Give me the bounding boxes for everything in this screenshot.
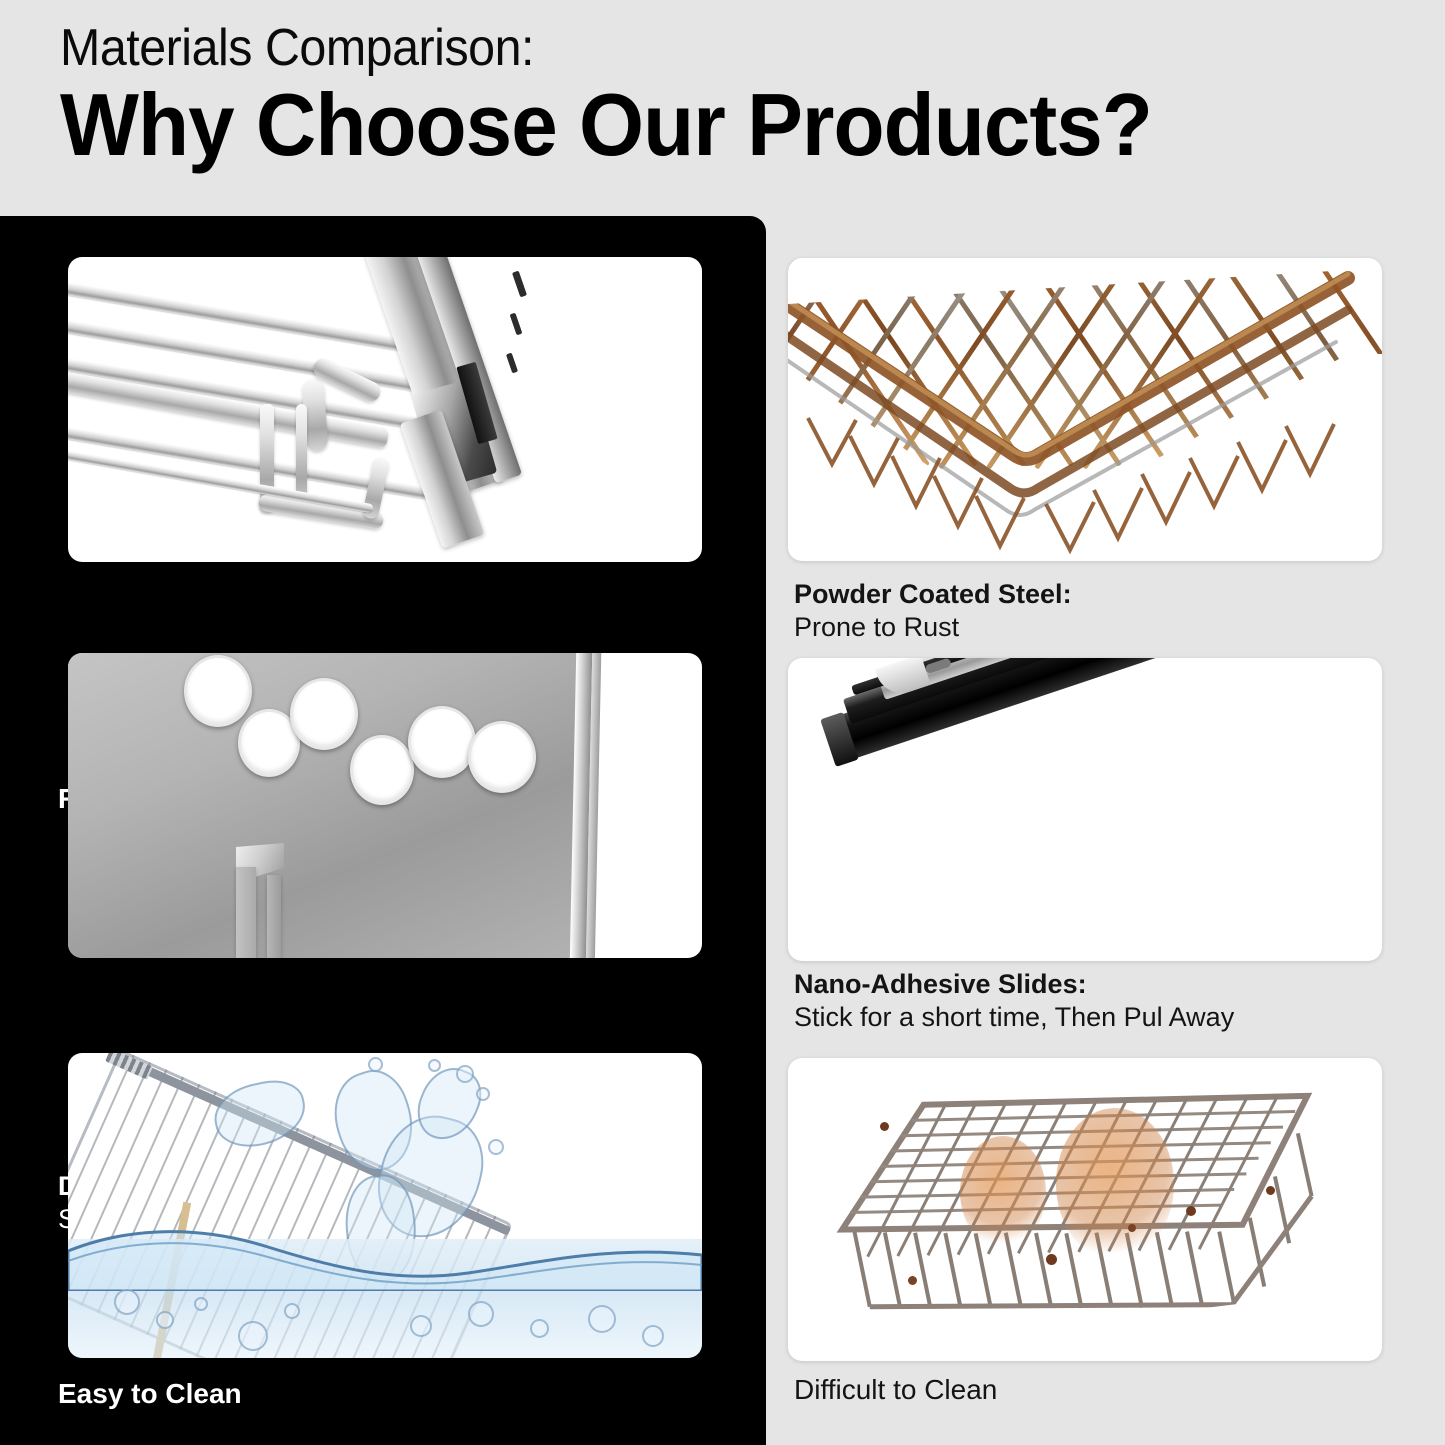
photo-card-durable-slides <box>68 653 702 958</box>
figure-slide-plate <box>68 653 702 958</box>
caption-powder-coated: Powder Coated Steel: Prone to Rust <box>794 578 1072 644</box>
caption-title: Difficult to Clean <box>794 1373 997 1407</box>
figure-chrome-rack <box>68 257 702 562</box>
caption-subtitle: Stick for a short time, Then Pul Away <box>794 1001 1234 1034</box>
basket-teeth <box>788 408 1382 561</box>
caption-subtitle: Prone to Rust <box>794 611 1072 644</box>
figure-dirty-basket <box>788 1058 1382 1361</box>
caption-title: Easy to Clean <box>58 1377 242 1411</box>
photo-card-powder-coated <box>788 258 1382 561</box>
photo-card-difficult-to-clean <box>788 1058 1382 1361</box>
page-title: Why Choose Our Products? <box>60 74 1152 176</box>
good-products-panel: Rust-Resistant Stainless Stee! Durable S… <box>0 216 766 1445</box>
caption-nano-adhesive: Nano-Adhesive Slides: Stick for a short … <box>794 968 1234 1034</box>
plate-hole <box>350 735 414 805</box>
caption-easy-to-clean: Easy to Clean <box>58 1377 242 1411</box>
figure-drawer-slide <box>788 658 1382 961</box>
plate-hole <box>290 678 358 750</box>
caption-title: Powder Coated Steel: <box>794 578 1072 611</box>
caption-title: Nano-Adhesive Slides: <box>794 968 1234 1001</box>
figure-rusty-mesh <box>788 258 1382 561</box>
plate-hole <box>468 721 536 793</box>
caption-difficult-to-clean: Difficult to Clean <box>794 1373 997 1407</box>
photo-card-nano-adhesive <box>788 658 1382 961</box>
figure-water-splash <box>68 1053 702 1358</box>
bad-products-panel: Powder Coated Steel: Prone to Rust <box>766 216 1445 1445</box>
residue-stain <box>1056 1108 1174 1260</box>
plate-hole <box>408 706 476 778</box>
water-wave <box>68 1221 702 1291</box>
plate-hole <box>184 655 252 727</box>
residue-stain <box>960 1136 1046 1248</box>
photo-card-rust-resistant <box>68 257 702 562</box>
headline-eyebrow: Materials Comparison: <box>60 18 534 78</box>
page-header: Materials Comparison: Why Choose Our Pro… <box>0 0 1445 216</box>
photo-card-easy-to-clean <box>68 1053 702 1358</box>
